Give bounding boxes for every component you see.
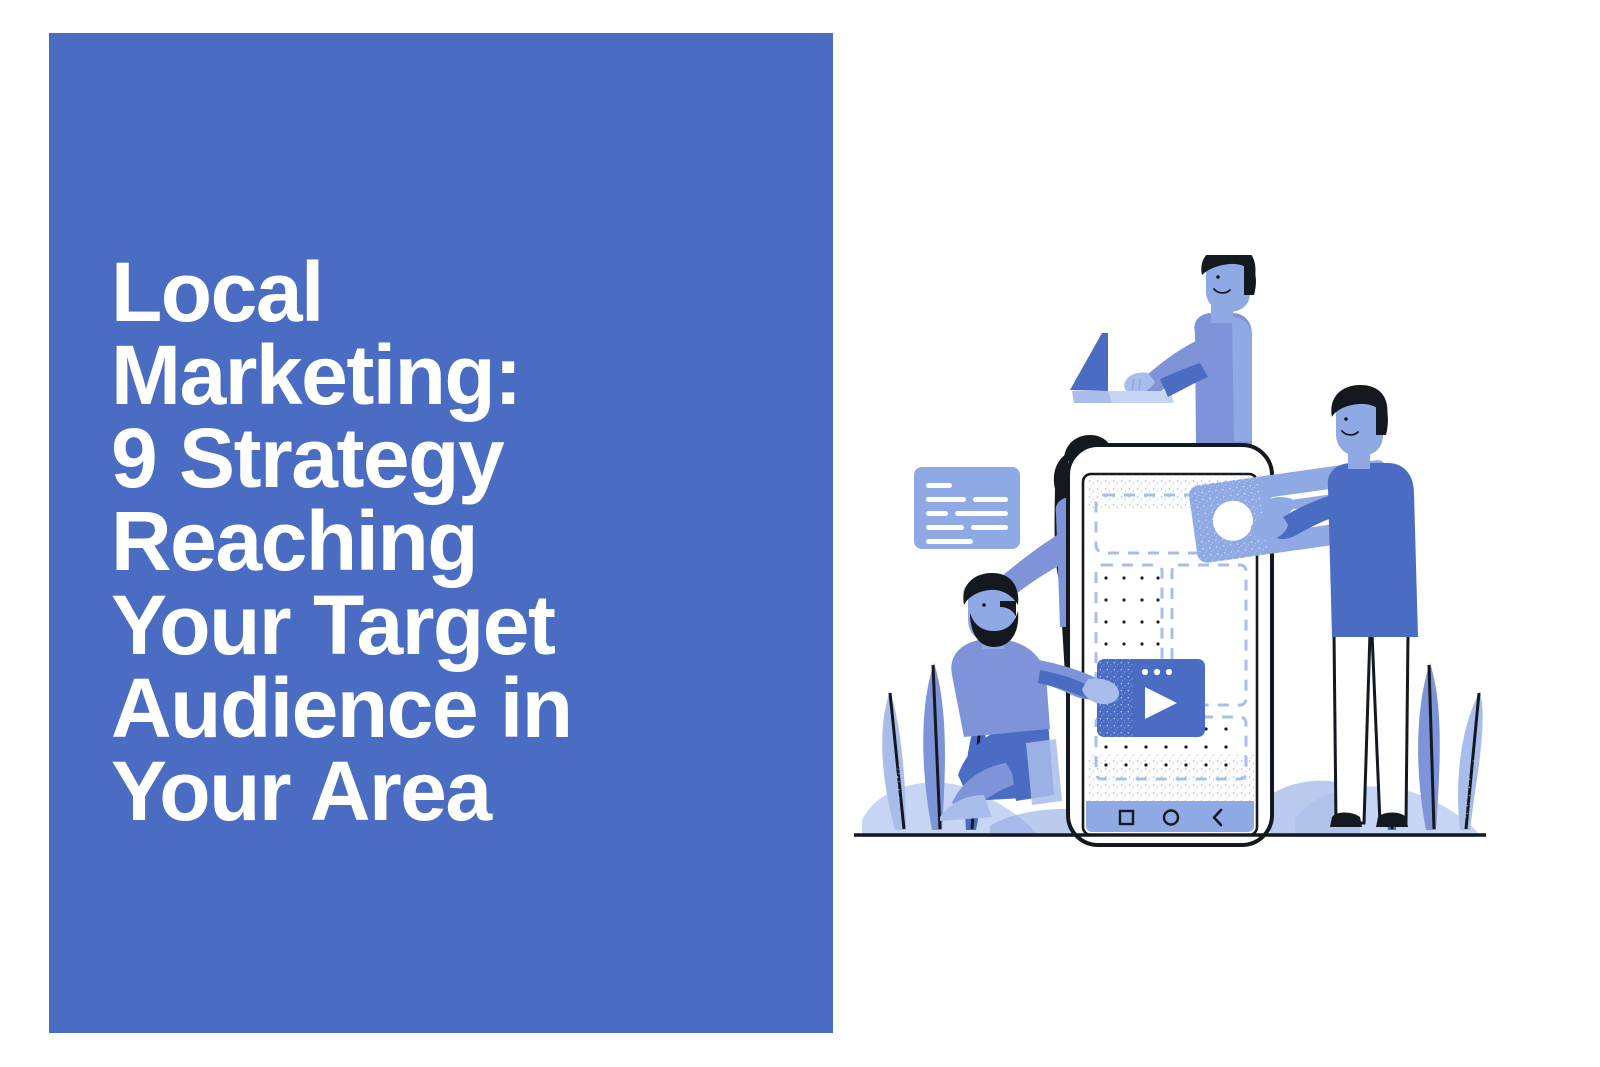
- carrier-right-leg: [1372, 633, 1408, 823]
- hero-illustration: [840, 255, 1500, 875]
- title-block: Local Marketing: 9 Strategy Reaching You…: [111, 251, 771, 833]
- laptop-man-eye-icon: [1216, 275, 1220, 279]
- finger-line: [1139, 379, 1140, 391]
- figure-man-carrying-card: [1251, 385, 1418, 827]
- title-panel: Local Marketing: 9 Strategy Reaching You…: [49, 33, 833, 1033]
- bearded-man-eye-icon: [982, 603, 986, 607]
- bearded-man-knee: [1026, 739, 1062, 805]
- text-card-line: [973, 497, 1008, 502]
- bearded-man-eye-icon: [1001, 603, 1005, 607]
- figure-man-with-laptop: [1070, 255, 1256, 445]
- carrier-eye-icon: [1344, 417, 1348, 421]
- illustration-svg: [840, 255, 1500, 875]
- carrier-left-leg: [1334, 633, 1370, 823]
- phone-nav-bar[interactable]: [1083, 801, 1259, 835]
- text-card-line: [926, 511, 948, 516]
- video-card-dots: [1142, 669, 1172, 675]
- laptop-man-shirt-shade: [1232, 317, 1252, 441]
- carrier-shirt: [1328, 463, 1418, 637]
- text-card-line: [926, 497, 966, 502]
- text-card-line: [955, 511, 1008, 516]
- card-text[interactable]: [914, 467, 1020, 549]
- text-card-line: [926, 483, 952, 488]
- bearded-man-shirt: [951, 639, 1050, 737]
- screen-texture-bottom: [1083, 755, 1259, 801]
- page-title: Local Marketing: 9 Strategy Reaching You…: [111, 251, 771, 833]
- carrier-hair-side: [1376, 395, 1388, 435]
- text-card-line: [971, 525, 1008, 530]
- text-card-line: [926, 539, 973, 544]
- laptop-screen-icon: [1070, 333, 1108, 391]
- laptop-keyboard-icon: [1108, 391, 1174, 403]
- plant-blade-icon: [1458, 691, 1483, 830]
- text-card-line: [926, 525, 964, 530]
- text-card-body: [914, 467, 1020, 549]
- poster-canvas: Local Marketing: 9 Strategy Reaching You…: [0, 0, 1600, 1067]
